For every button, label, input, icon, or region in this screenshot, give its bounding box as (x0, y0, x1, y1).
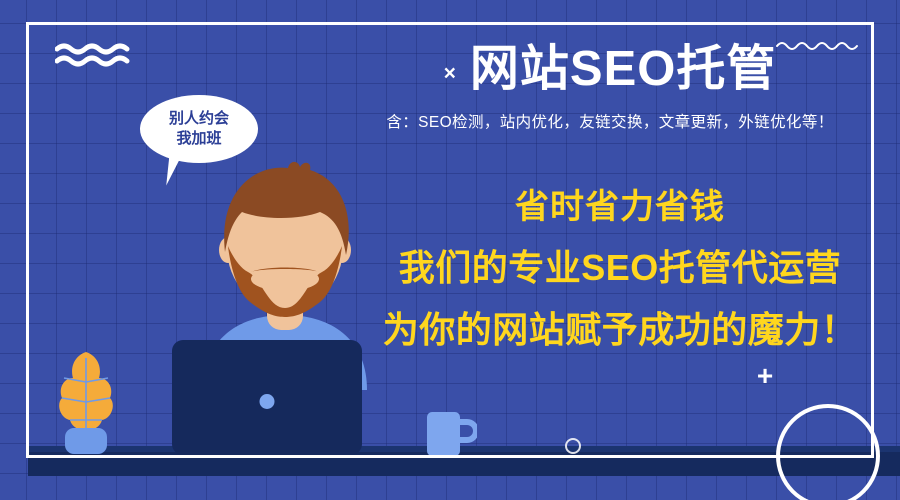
corner-circle-decoration (776, 404, 880, 500)
title-row: × 网站SEO托管 (330, 42, 890, 97)
speech-bubble-line1: 别人约会 (169, 109, 229, 129)
speech-bubble-line2: 我加班 (176, 129, 221, 149)
page-subtitle: 含：SEO检测，站内优化，友链交换，文章更新，外链优化等！ (330, 110, 890, 132)
speech-bubble: 别人约会 我加班 (140, 95, 258, 163)
laptop (172, 340, 362, 455)
page-title: 网站SEO托管 (470, 42, 776, 97)
plant-decoration (52, 348, 120, 454)
plus-decoration-icon: + (650, 362, 880, 390)
seo-promo-banner: 别人约会 我加班 × 网站SEO托管 含：SEO检测，站内优化，友链交换，文章更… (0, 0, 900, 500)
slogan-line-1: 省时省力省钱 (360, 190, 880, 224)
x-mark-icon: × (444, 63, 456, 84)
slogan-line-3: 为你的网站赋予成功的魔力！ (360, 312, 880, 348)
wave-left-icon (55, 42, 135, 68)
coffee-mug (425, 410, 477, 456)
title-block: × 网站SEO托管 含：SEO检测，站内优化，友链交换，文章更新，外链优化等！ (330, 42, 890, 132)
slogan-line-2: 我们的专业SEO托管代运营 (360, 250, 880, 286)
slogan-block: 省时省力省钱 我们的专业SEO托管代运营 为你的网站赋予成功的魔力！ + (360, 190, 880, 390)
small-circle-decoration (565, 438, 581, 454)
laptop-logo-icon (260, 394, 275, 409)
